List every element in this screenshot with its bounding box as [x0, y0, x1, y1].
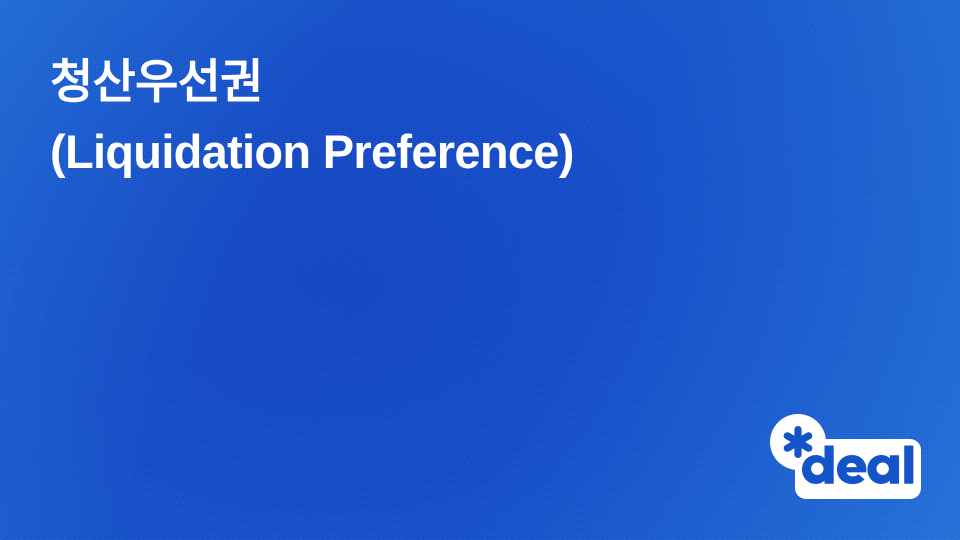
deal-logo-graphic: [768, 412, 922, 500]
slide-title-block: 청산우선권 (Liquidation Preference): [50, 47, 830, 187]
slide-title-korean: 청산우선권: [50, 47, 830, 117]
presentation-slide: 청산우선권 (Liquidation Preference): [0, 0, 960, 540]
deal-logo: [768, 412, 922, 500]
slide-title-english: (Liquidation Preference): [50, 117, 830, 187]
